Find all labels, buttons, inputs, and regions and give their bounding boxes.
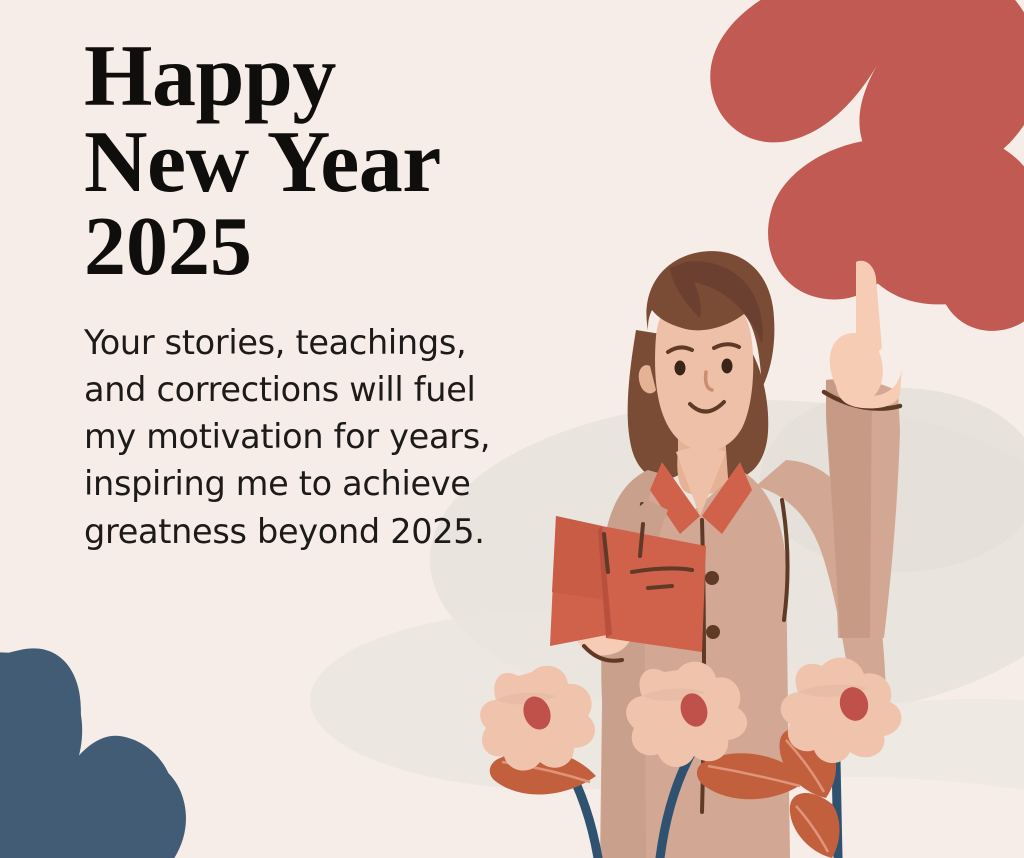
flower-right-petals — [781, 658, 902, 763]
flower-right-leaf-lower — [790, 793, 840, 858]
greeting-card-poster: Happy New Year2025 Your stories, teachin… — [0, 0, 1024, 858]
body-message: Your stories, teachings, and corrections… — [84, 319, 504, 555]
flower-left — [480, 666, 598, 858]
headline-line-1: Happy — [84, 28, 336, 125]
flower-middle — [626, 662, 808, 858]
headline-year: 2025 — [84, 206, 554, 288]
page-title: Happy New Year2025 — [84, 34, 554, 289]
flower-right — [780, 658, 902, 858]
headline-line-2: New Year — [84, 114, 441, 211]
text-block: Happy New Year2025 Your stories, teachin… — [84, 34, 554, 555]
